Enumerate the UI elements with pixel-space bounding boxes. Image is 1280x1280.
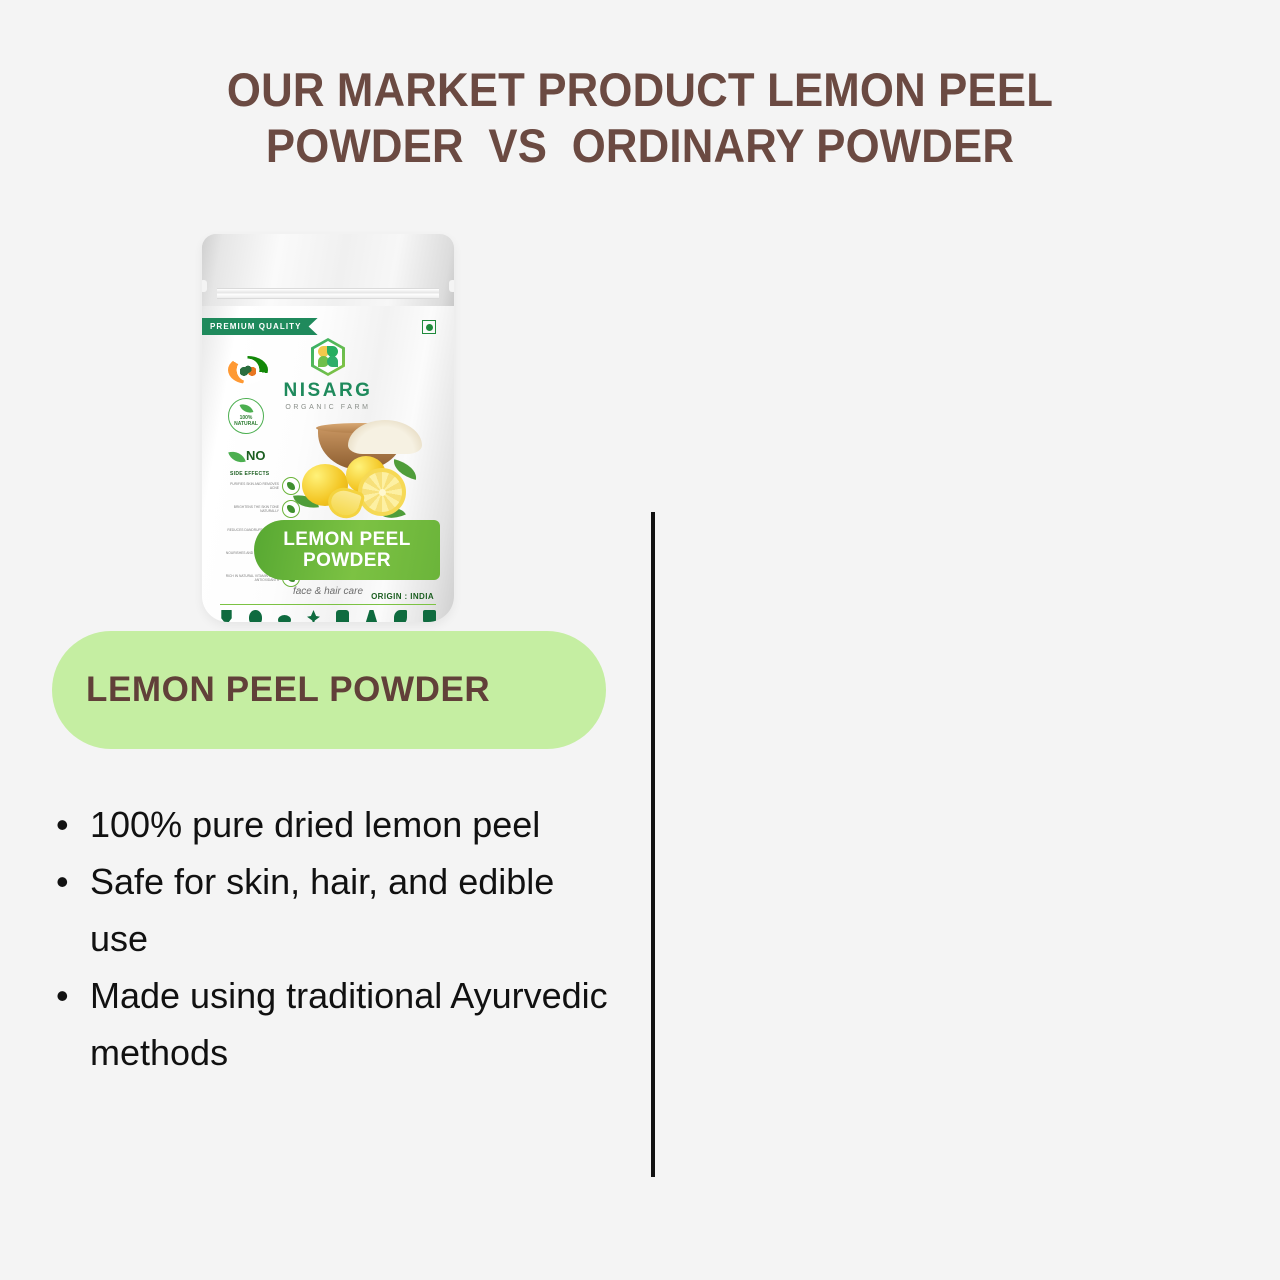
hexagon-logo-icon — [311, 338, 345, 376]
pouch-body: PREMIUM QUALITY NISARG ORGANIC FARM 100%… — [202, 234, 454, 622]
product-label-banner: LEMON PEEL POWDER — [254, 520, 440, 580]
powder-heap — [348, 420, 422, 454]
natural-badge-bottom: NATURAL — [234, 421, 258, 427]
list-item: 100% pure dried lemon peel — [48, 796, 608, 853]
lemon-peel-powder-benefits-list: 100% pure dried lemon peel Safe for skin… — [48, 796, 608, 1081]
feature-label: PURIFIES SKIN AND REMOVES ACNE — [224, 482, 282, 490]
right-column: ORDINARY POWDER May contain starch, fill… — [640, 0, 1280, 1280]
no-side-effects-main: NO — [246, 449, 266, 462]
lemon-half-icon — [358, 468, 406, 516]
leaf-icon — [220, 610, 233, 622]
product-photo — [294, 410, 426, 530]
pouch-notch-right — [449, 280, 454, 292]
package-icon-row — [220, 610, 436, 622]
list-item: Made using traditional Ayurvedic methods — [48, 967, 608, 1081]
lemon-peel-powder-pill-label: LEMON PEEL POWDER — [86, 670, 490, 710]
scrub-icon — [278, 615, 291, 622]
india-certification-badge-icon — [228, 356, 268, 384]
pouch-notch-left — [202, 280, 207, 292]
feature-row: PURIFIES SKIN AND REMOVES ACNE — [224, 476, 300, 495]
lemon-peel-powder-pill: LEMON PEEL POWDER — [52, 631, 606, 749]
person-care-icon — [365, 610, 378, 622]
product-label-line-1: LEMON PEEL — [283, 529, 411, 550]
natural-badge-icon: 100%NATURAL — [228, 398, 264, 434]
certification-badges: 100%NATURAL NO SIDE EFFECTS — [228, 356, 282, 492]
feature-row: BRIGHTENS THE SKIN TONE NATURALLY — [224, 499, 300, 518]
lemon-peel-powder-package-image: PREMIUM QUALITY NISARG ORGANIC FARM 100%… — [202, 234, 454, 622]
mortar-icon — [336, 610, 349, 622]
left-column: PREMIUM QUALITY NISARG ORGANIC FARM 100%… — [0, 0, 640, 1280]
origin-divider — [220, 604, 436, 605]
herb-icon — [307, 610, 320, 622]
vegetarian-mark-icon — [422, 320, 436, 334]
cup-icon — [423, 610, 436, 622]
origin-text: ORIGIN : INDIA — [371, 592, 434, 601]
plant-icon — [394, 610, 407, 622]
list-item: Safe for skin, hair, and edible use — [48, 853, 608, 967]
bowl-icon — [249, 610, 262, 622]
premium-quality-ribbon: PREMIUM QUALITY — [202, 318, 318, 335]
feature-label: BRIGHTENS THE SKIN TONE NATURALLY — [224, 505, 282, 513]
product-label-line-2: POWDER — [303, 550, 391, 571]
pouch-header-seal — [202, 234, 454, 306]
no-side-effects-badge-icon: NO SIDE EFFECTS — [228, 448, 280, 478]
